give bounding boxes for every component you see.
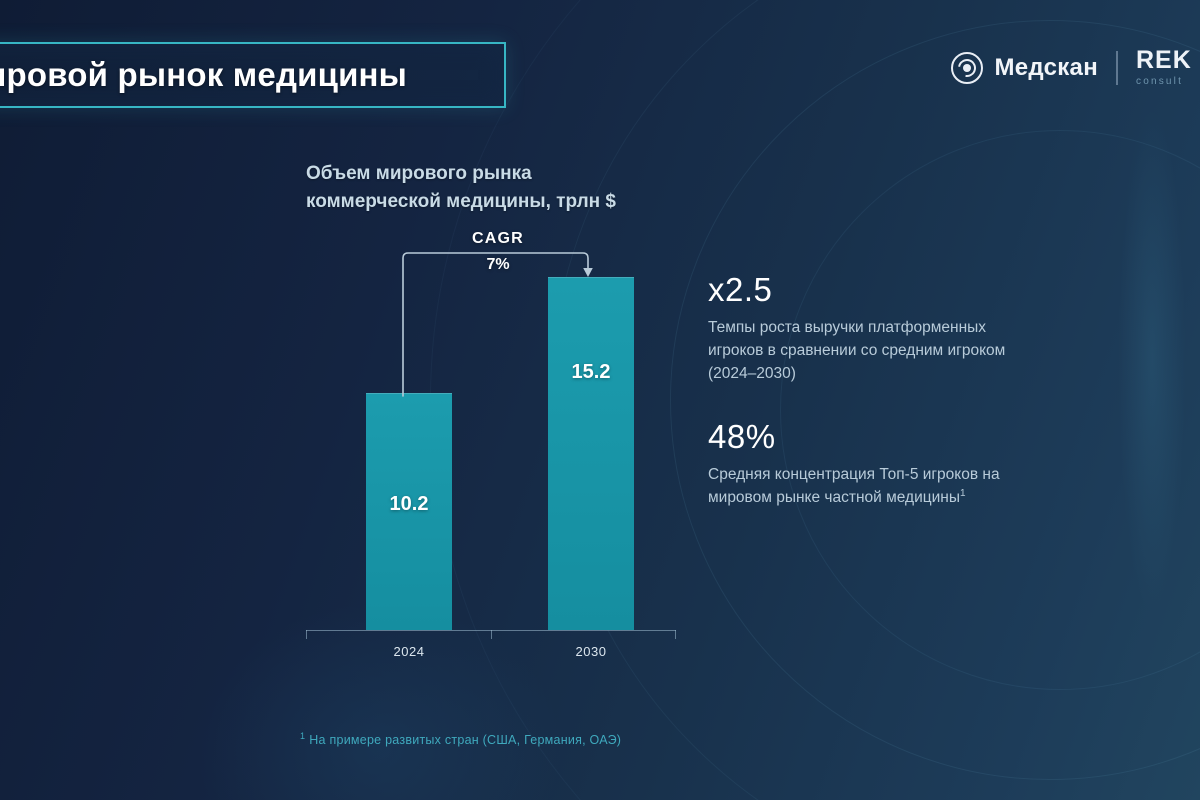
bar-chart: 10.2 15.2: [306, 240, 676, 630]
x-axis-tick: [306, 630, 307, 639]
stats-panel: x2.5 Темпы роста выручки платформенных и…: [708, 272, 1008, 510]
footnote: 1На примере развитых стран (США, Германи…: [300, 731, 621, 747]
brand-bar: Медскан REK consult: [951, 44, 1200, 92]
stat-block-concentration: 48% Средняя концентрация Топ-5 игроков н…: [708, 419, 1008, 510]
bar-2030: 15.2: [548, 277, 634, 630]
stat-footnote-mark: 1: [960, 488, 966, 499]
stat-block-growth: x2.5 Темпы роста выручки платформенных и…: [708, 272, 1008, 385]
cagr-value: 7%: [408, 256, 588, 274]
medscan-spiral-icon: [951, 52, 983, 84]
stat-text-concentration-body: Средняя концентрация Топ-5 игроков на ми…: [708, 466, 1000, 506]
x-axis-tick: [675, 630, 676, 639]
x-axis-label-2030: 2030: [536, 644, 646, 659]
brand-name-label: Медскан: [994, 54, 1098, 82]
x-axis-tick: [491, 630, 492, 639]
chart-heading-line2: коммерческой медицины, трлн $: [306, 188, 616, 216]
brand-medscan: Медскан: [951, 52, 1098, 84]
brand-divider: [1116, 51, 1118, 85]
footnote-text: На примере развитых стран (США, Германия…: [309, 733, 621, 747]
x-axis-label-2024: 2024: [354, 644, 464, 659]
page-title: ировой рынок медицины: [0, 56, 407, 94]
partner-sub-label: consult: [1136, 75, 1200, 89]
chart-heading: Объем мирового рынка коммерческой медици…: [306, 160, 616, 215]
stat-text-concentration: Средняя концентрация Топ-5 игроков на ми…: [708, 464, 1008, 509]
bar-value-2024: 10.2: [366, 493, 452, 516]
stat-value-growth: x2.5: [708, 272, 1008, 308]
cagr-label: CAGR: [408, 230, 588, 248]
partner-name-label: REK: [1136, 48, 1200, 73]
bar-2024: 10.2: [366, 393, 452, 630]
slide-title-box: ировой рынок медицины: [0, 42, 506, 108]
stat-text-growth: Темпы роста выручки платформенных игроко…: [708, 317, 1008, 385]
bar-value-2030: 15.2: [548, 361, 634, 384]
chart-heading-line1: Объем мирового рынка: [306, 160, 616, 188]
stat-value-concentration: 48%: [708, 419, 1008, 455]
footnote-mark: 1: [300, 731, 305, 741]
brand-partner: REK consult: [1136, 48, 1200, 89]
